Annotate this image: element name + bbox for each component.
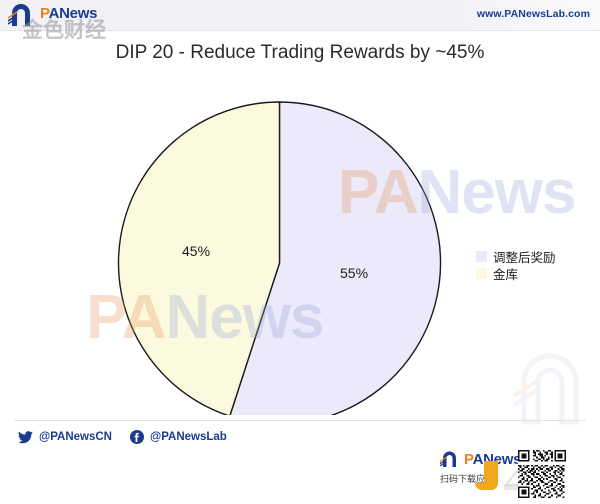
header-url: www.PANewsLab.com: [477, 8, 590, 20]
social-handle-twitter: @PANewsCN: [39, 431, 112, 443]
watermark-arch-icon: [514, 352, 586, 426]
pie-value-label-45: 45%: [182, 243, 210, 259]
pie-chart-svg: [0, 30, 600, 415]
footer-brand-suffix: ANews: [473, 451, 522, 468]
footer-social-bar: @PANewsCN @PANewsLab: [18, 430, 245, 444]
pie-value-label-55: 55%: [340, 265, 368, 281]
facebook-icon: [130, 430, 144, 444]
footer-download-caption: 扫码下载应用: [440, 472, 494, 485]
pie-chart: PANews PANews 55% 45% 调整后奖励 金库: [0, 30, 600, 415]
social-link-facebook[interactable]: @PANewsLab: [130, 430, 227, 444]
qr-code-icon[interactable]: [518, 450, 566, 498]
chart-legend: 调整后奖励 金库: [476, 248, 556, 282]
panews-arch-logo-icon-footer: [440, 450, 460, 469]
social-handle-facebook: @PANewsLab: [150, 431, 227, 443]
promo-watermark-text: 金色财经: [22, 14, 106, 44]
legend-item-adjusted-rewards[interactable]: 调整后奖励: [476, 248, 556, 265]
legend-swatch-adjusted-rewards: [476, 251, 487, 262]
footer-brand-prefix: P: [464, 451, 473, 468]
legend-label-treasury: 金库: [493, 264, 518, 283]
legend-swatch-treasury: [476, 268, 487, 279]
social-link-twitter[interactable]: @PANewsCN: [18, 431, 112, 444]
footer-brand-wordmark: PANews: [464, 451, 521, 468]
footer-divider: [14, 420, 586, 421]
legend-item-treasury[interactable]: 金库: [476, 265, 556, 282]
twitter-icon: [18, 431, 33, 444]
